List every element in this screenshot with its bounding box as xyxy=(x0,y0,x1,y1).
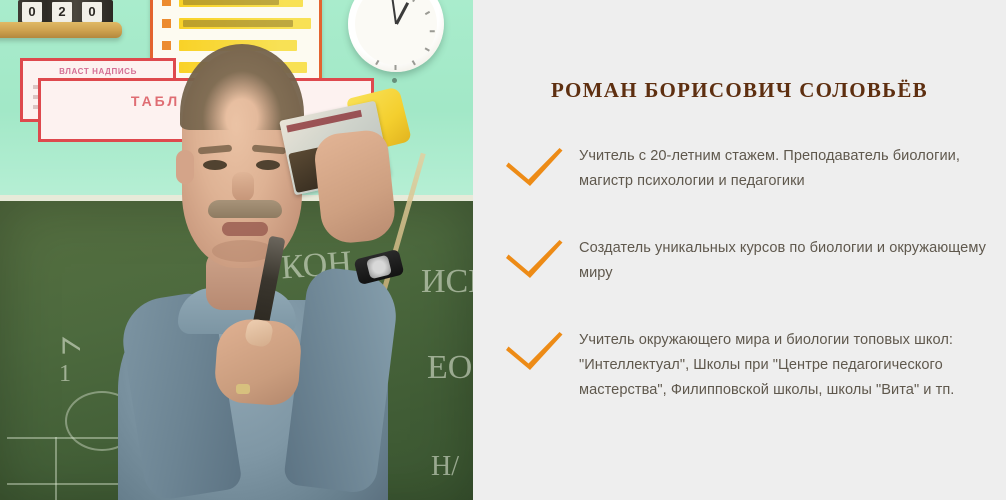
check-icon xyxy=(503,146,567,194)
raised-hand xyxy=(312,128,397,245)
mustache xyxy=(208,200,282,218)
eye-right xyxy=(256,160,280,170)
list-item: Учитель с 20-летним стажем. Преподавател… xyxy=(503,140,986,194)
list-item-text: Учитель с 20-летним стажем. Преподавател… xyxy=(579,140,986,194)
person-name-title: РОМАН БОРИСОВИЧ СОЛОВЬЁВ xyxy=(473,78,1006,103)
check-icon xyxy=(503,238,567,286)
list-item: Учитель окружающего мира и биологии топо… xyxy=(503,324,986,403)
eye-left xyxy=(203,160,227,170)
wristwatch xyxy=(354,249,405,285)
nose xyxy=(232,172,254,202)
presentation-slide: 0 2 0 ВЛАСТ НАДПИСЬ xyxy=(0,0,1006,500)
list-item: Создатель уникальных курсов по биологии … xyxy=(503,232,986,286)
credentials-list: Учитель с 20-летним стажем. Преподавател… xyxy=(503,140,986,441)
watch-dial xyxy=(366,255,392,280)
mouth xyxy=(222,222,268,236)
wedding-ring xyxy=(236,384,250,394)
teacher-figure xyxy=(0,0,473,500)
teacher-photo: 0 2 0 ВЛАСТ НАДПИСЬ xyxy=(0,0,473,500)
list-item-text: Создатель уникальных курсов по биологии … xyxy=(579,232,986,286)
ear-left xyxy=(176,150,194,184)
photo-scene: 0 2 0 ВЛАСТ НАДПИСЬ xyxy=(0,0,473,500)
list-item-text: Учитель окружающего мира и биологии топо… xyxy=(579,324,986,403)
check-icon xyxy=(503,330,567,378)
hair xyxy=(180,44,304,130)
info-panel: РОМАН БОРИСОВИЧ СОЛОВЬЁВ Учитель с 20-ле… xyxy=(473,0,1006,500)
